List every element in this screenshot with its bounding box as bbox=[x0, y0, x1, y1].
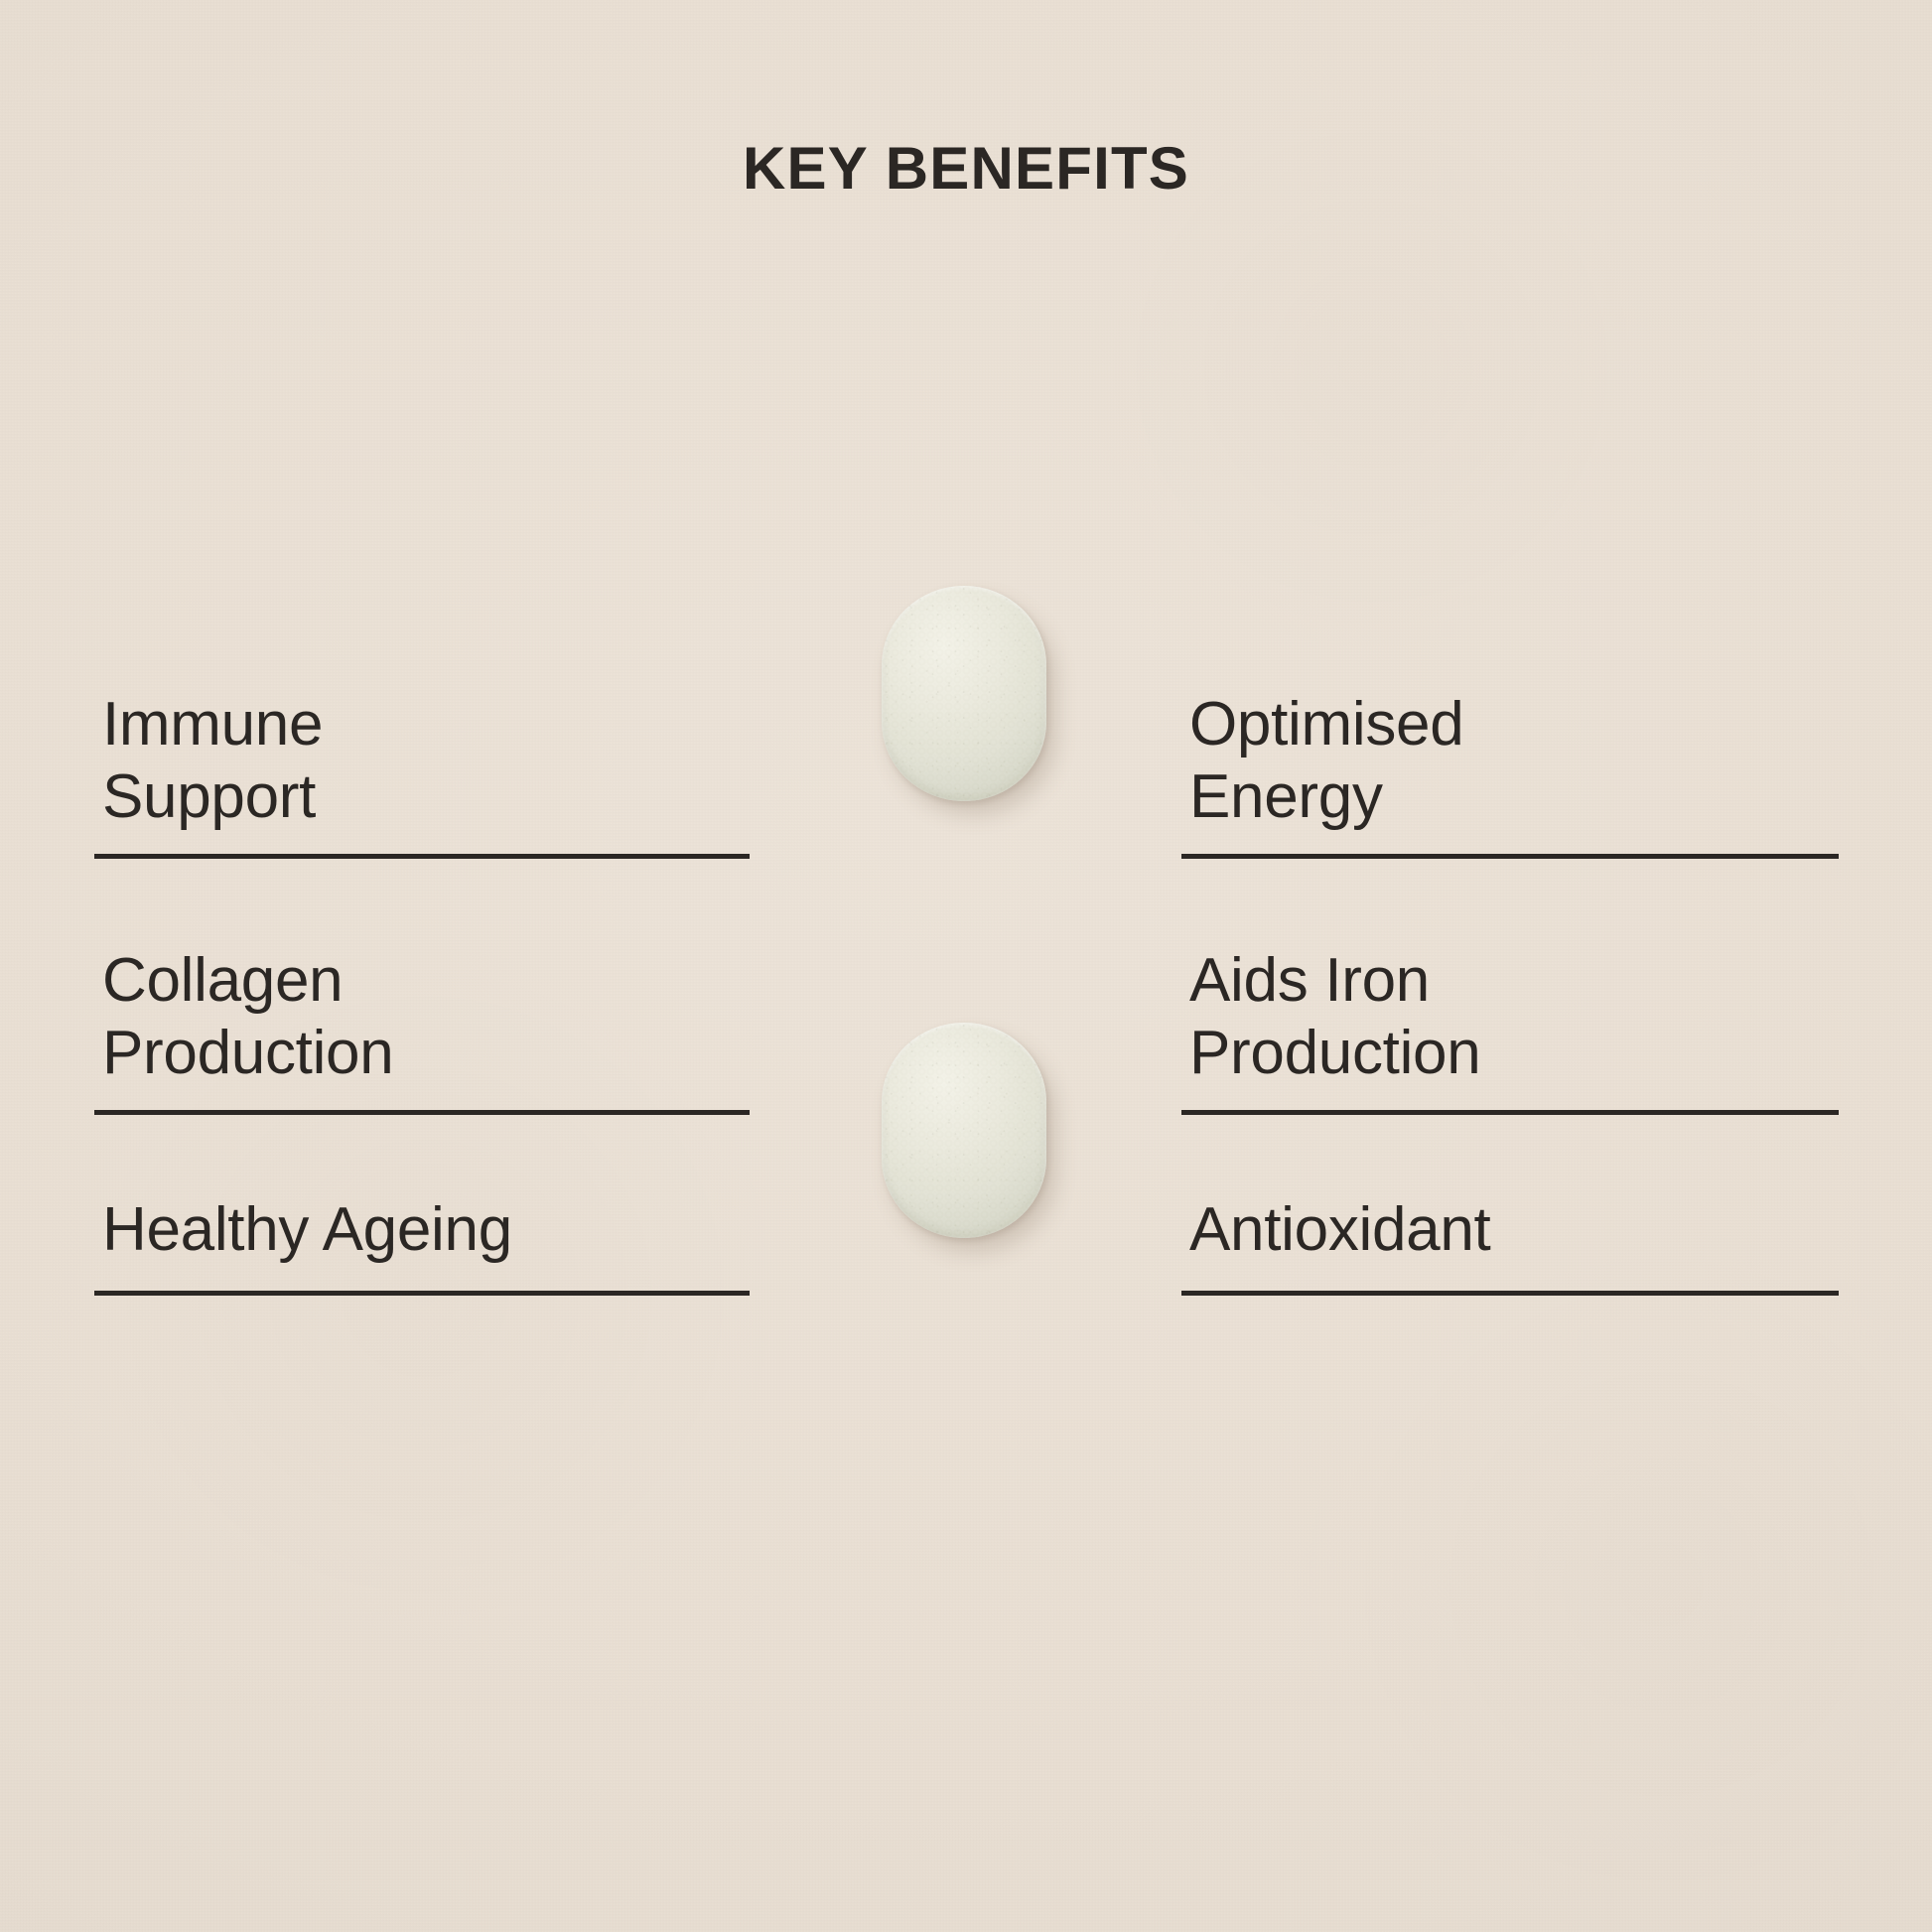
benefit-divider bbox=[94, 1110, 750, 1115]
benefit-label: Optimised Energy bbox=[1189, 688, 1463, 833]
benefit-item-collagen-production: Collagen Production bbox=[94, 874, 750, 1115]
benefit-label: Aids Iron Production bbox=[1189, 944, 1480, 1089]
benefit-label: Immune Support bbox=[102, 688, 323, 833]
page-title: KEY BENEFITS bbox=[0, 139, 1932, 199]
key-benefits-panel: KEY BENEFITS Immune Support Collagen Pro… bbox=[0, 0, 1932, 1932]
benefit-divider bbox=[1181, 854, 1839, 859]
tablet-image-bottom bbox=[882, 1023, 1046, 1238]
benefit-divider bbox=[1181, 1291, 1839, 1296]
tablet-image-top bbox=[882, 586, 1046, 801]
benefit-label: Healthy Ageing bbox=[102, 1193, 512, 1266]
benefit-label: Collagen Production bbox=[102, 944, 393, 1089]
benefit-item-immune-support: Immune Support bbox=[94, 467, 750, 859]
benefit-item-aids-iron-production: Aids Iron Production bbox=[1181, 874, 1839, 1115]
benefit-item-optimised-energy: Optimised Energy bbox=[1181, 467, 1839, 859]
benefit-label: Antioxidant bbox=[1189, 1193, 1490, 1266]
benefit-divider bbox=[1181, 1110, 1839, 1115]
benefit-divider bbox=[94, 1291, 750, 1296]
benefit-divider bbox=[94, 854, 750, 859]
benefit-item-antioxidant: Antioxidant bbox=[1181, 1132, 1839, 1296]
benefit-item-healthy-ageing: Healthy Ageing bbox=[94, 1132, 750, 1296]
